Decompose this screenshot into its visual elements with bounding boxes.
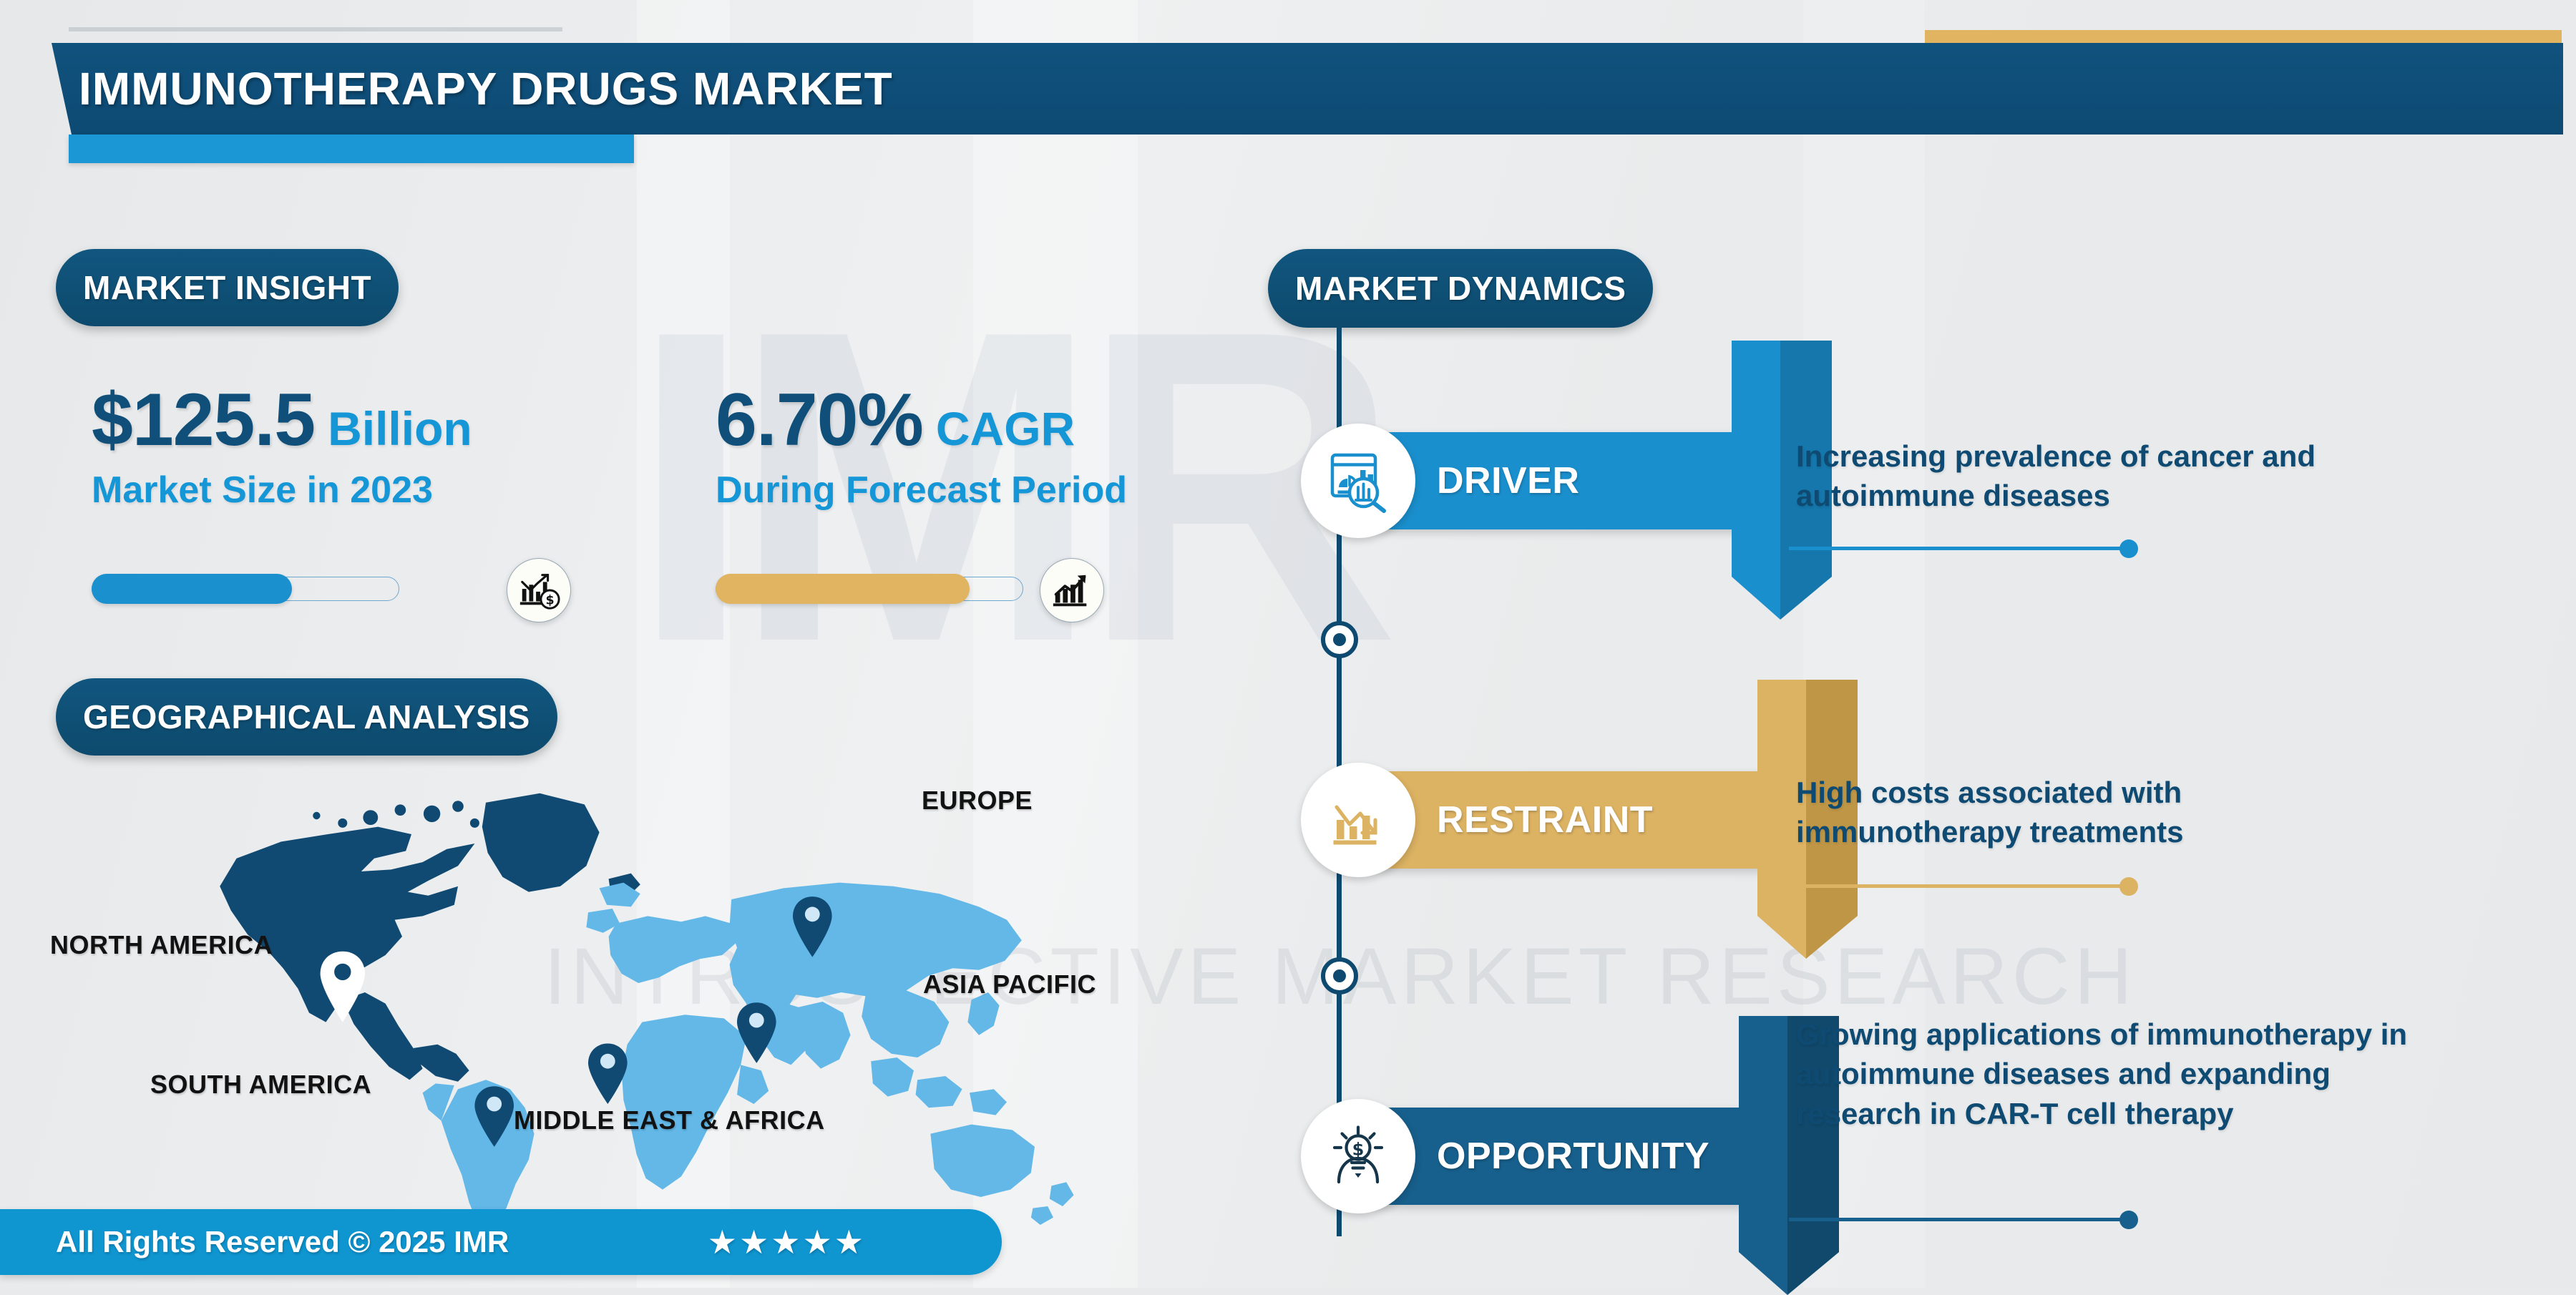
map-region-base [423, 883, 1074, 1227]
section-title-geographical-analysis: GEOGRAPHICAL ANALYSIS [56, 678, 557, 756]
market-size-caption: Market Size in 2023 [92, 469, 472, 512]
map-label-south-america: SOUTH AMERICA [150, 1070, 371, 1100]
section-title-market-dynamics: MARKET DYNAMICS [1268, 249, 1653, 328]
opportunity-underline [1789, 1218, 2129, 1221]
infographic-canvas: IMR INTROSPECTIVE MARKET RESEARCH IMMUNO… [0, 0, 2576, 1288]
svg-text:$: $ [545, 593, 554, 607]
progress-fill [716, 574, 970, 604]
opportunity-description: Growing applications of immunotherapy in… [1796, 1015, 2426, 1133]
driver-description: Increasing prevalence of cancer and auto… [1796, 436, 2411, 516]
section-title-market-insight: MARKET INSIGHT [56, 249, 399, 326]
footer-copyright: All Rights Reserved © 2025 IMR [56, 1225, 509, 1259]
header-blue-accent [69, 135, 634, 163]
report-analysis-magnifier-icon [1301, 424, 1415, 538]
driver-underline [1789, 547, 2129, 550]
opportunity-bar: $ OPPORTUNITY [1342, 1108, 1750, 1205]
dynamics-spine-node [1321, 957, 1358, 995]
driver-underline-dot [2119, 539, 2138, 558]
driver-label: DRIVER [1437, 459, 1579, 502]
world-map [179, 766, 1109, 1238]
svg-text:$: $ [1352, 1140, 1365, 1160]
market-size-value: $125.5 [92, 378, 315, 463]
map-pin-middle-east-africa [588, 1044, 628, 1105]
dynamics-spine-node [1321, 621, 1358, 658]
lightbulb-dollar-icon: $ [1301, 1099, 1415, 1213]
restraint-underline [1789, 884, 2129, 888]
cagr-value: 6.70% [716, 378, 923, 463]
stat-cagr: 6.70%CAGR During Forecast Period [716, 378, 1127, 512]
cagr-progress [716, 558, 1116, 620]
footer-bar: All Rights Reserved © 2025 IMR ★★★★★ [0, 1209, 1002, 1275]
page-title: IMMUNOTHERAPY DRUGS MARKET [79, 62, 893, 115]
restraint-description: High costs associated with immunotherapy… [1796, 773, 2411, 852]
header-bar: IMMUNOTHERAPY DRUGS MARKET [52, 43, 2563, 135]
opportunity-underline-dot [2119, 1211, 2138, 1229]
progress-fill [92, 574, 292, 604]
footer-rating-stars: ★★★★★ [708, 1223, 866, 1261]
stat-market-size: $125.5Billion Market Size in 2023 [92, 378, 472, 512]
bar-chart-dollar-icon: $ [507, 558, 571, 622]
map-label-europe: EUROPE [922, 786, 1033, 816]
restraint-underline-dot [2119, 877, 2138, 896]
restraint-label: RESTRAINT [1437, 798, 1653, 841]
map-region-north-america [220, 793, 640, 1082]
cagr-unit: CAGR [936, 401, 1075, 456]
map-label-asia-pacific: ASIA PACIFIC [923, 969, 1096, 1000]
map-label-north-america: NORTH AMERICA [50, 930, 273, 960]
growth-arrow-chart-icon [1040, 558, 1104, 622]
restraint-bar: RESTRAINT [1342, 771, 1769, 869]
opportunity-label: OPPORTUNITY [1437, 1135, 1709, 1178]
market-size-progress: $ [92, 558, 492, 620]
declining-bar-chart-icon [1301, 763, 1415, 877]
header-top-rule [69, 27, 562, 31]
market-size-unit: Billion [328, 401, 472, 456]
map-label-middle-east-africa: MIDDLE EAST & AFRICA [514, 1105, 825, 1135]
driver-bar: DRIVER [1342, 432, 1743, 529]
cagr-caption: During Forecast Period [716, 469, 1127, 512]
